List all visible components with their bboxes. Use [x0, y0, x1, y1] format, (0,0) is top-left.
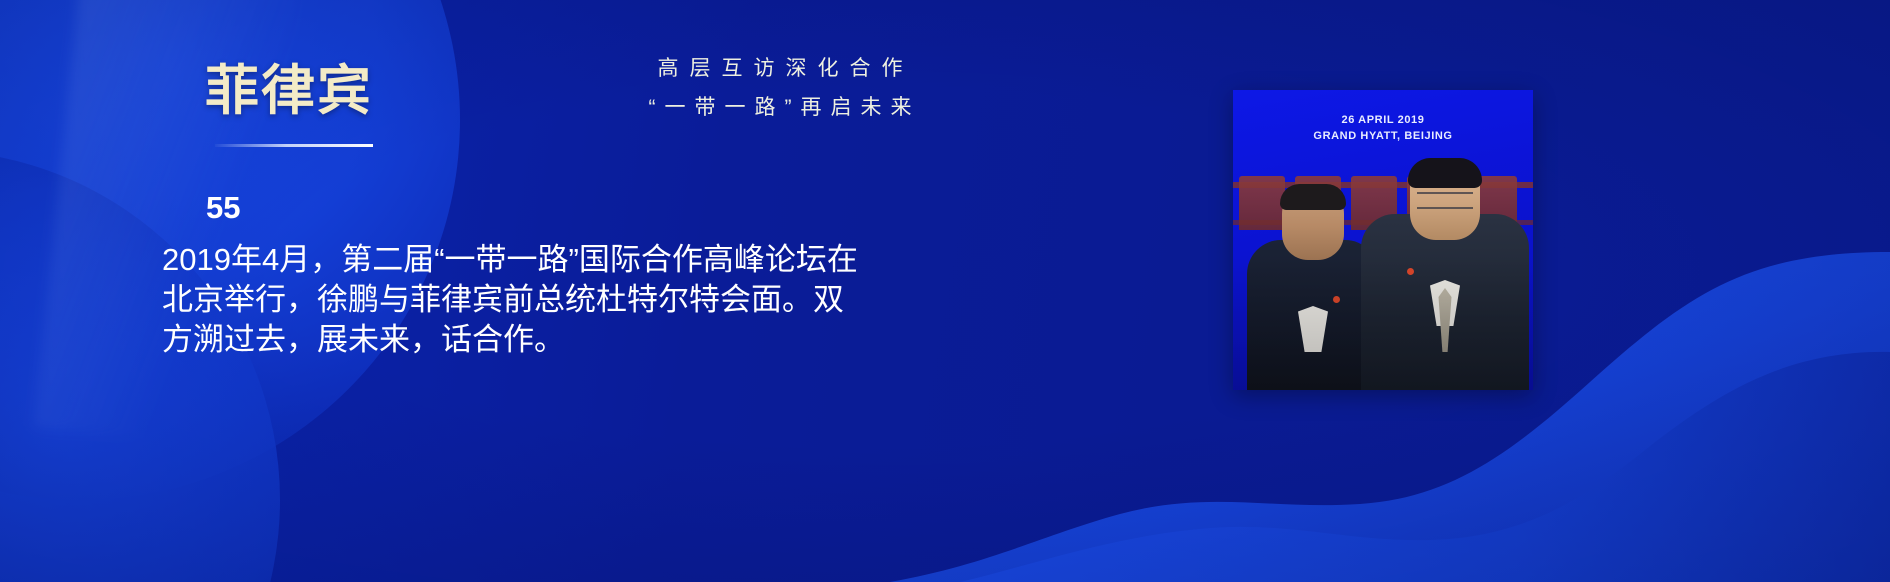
- photo-person-left-suit: [1247, 240, 1379, 390]
- photo-person-left: [1247, 178, 1379, 390]
- photo-person-right-head: [1410, 158, 1480, 240]
- photo-person-right-glasses: [1417, 192, 1473, 209]
- photo-person-left-hair: [1280, 184, 1346, 210]
- photo-person-right: [1361, 152, 1529, 390]
- photo-person-right-hair: [1408, 158, 1482, 188]
- photo-person-right-lapel-pin: [1407, 268, 1414, 275]
- item-number: 55: [206, 192, 240, 223]
- photo-backdrop-venue: GRAND HYATT, BEIJING: [1233, 128, 1533, 144]
- country-title: 菲律宾: [205, 64, 373, 118]
- photo-person-left-lapel-pin: [1333, 296, 1340, 303]
- event-photo: 26 APRIL 2019 GRAND HYATT, BEIJING: [1233, 90, 1533, 390]
- photo-person-right-suit: [1361, 214, 1529, 390]
- photo-person-left-head: [1282, 184, 1344, 260]
- photo-backdrop-caption: 26 APRIL 2019 GRAND HYATT, BEIJING: [1233, 112, 1533, 144]
- photo-person-right-tie: [1439, 288, 1452, 352]
- body-paragraph: 2019年4月，第二届“一带一路”国际合作高峰论坛在北京举行，徐鹏与菲律宾前总统…: [162, 240, 862, 360]
- slide-canvas: 菲律宾 高层互访深化合作 “一带一路”再启未来 55 2019年4月，第二届“一…: [0, 0, 1890, 582]
- photo-person-left-shirt: [1298, 306, 1328, 352]
- photo-backdrop-date: 26 APRIL 2019: [1233, 112, 1533, 128]
- title-underline-rule: [215, 144, 373, 147]
